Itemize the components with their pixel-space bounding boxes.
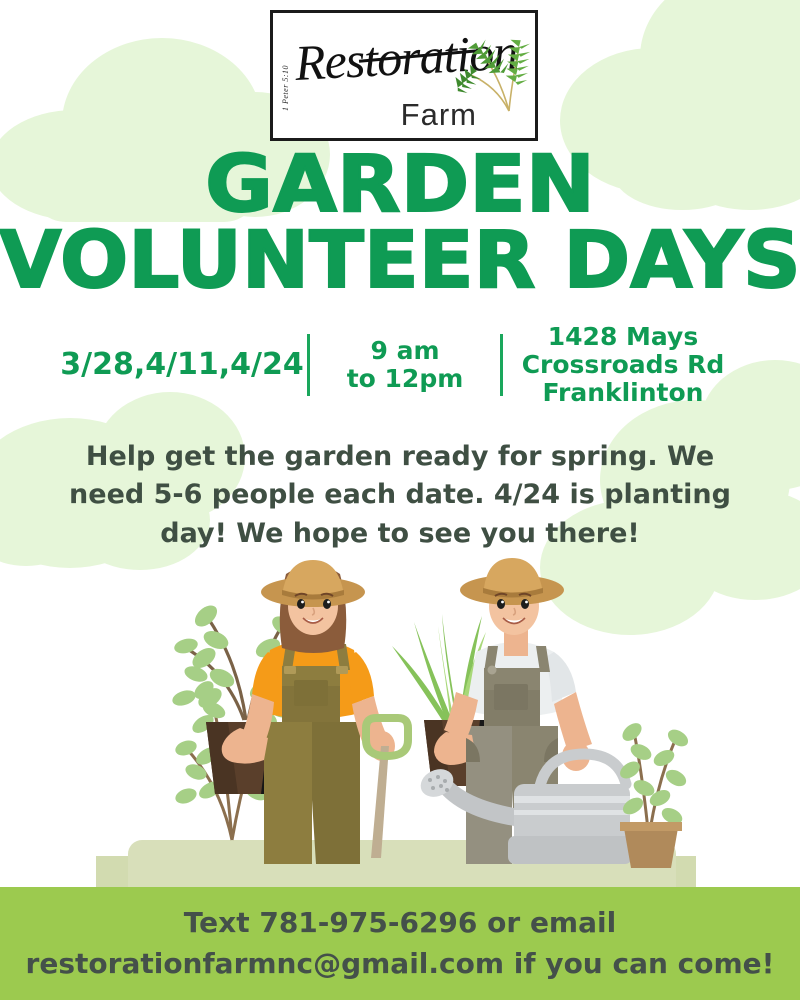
contact-text: Text 781-975-6296 or email restorationfa…	[2, 903, 799, 984]
gardeners-illustration	[0, 540, 800, 888]
address-line-1: 1428 Mays	[503, 323, 743, 351]
event-time-line-2: to 12pm	[310, 365, 500, 393]
contact-banner: Text 781-975-6296 or email restorationfa…	[0, 887, 800, 1000]
event-dates: 3/28,4/11,4/24	[57, 348, 307, 382]
contact-line-1: Text 781-975-6296 or email	[26, 903, 775, 944]
event-time: 9 am to 12pm	[310, 337, 500, 393]
contact-line-2: restorationfarmnc@gmail.com if you can c…	[26, 944, 775, 985]
address-line-2: Crossroads Rd	[503, 351, 743, 379]
cloud-shape	[640, 0, 800, 145]
event-info-row: 3/28,4/11,4/24 9 am to 12pm 1428 Mays Cr…	[0, 322, 800, 408]
headline-line-1: GARDEN	[0, 150, 800, 222]
address-line-3: Franklinton	[503, 379, 743, 407]
event-description: Help get the garden ready for spring. We…	[62, 438, 738, 553]
poster-canvas: 1 Peter 5:10 Restoration Farm	[0, 0, 800, 1000]
page-title: GARDEN VOLUNTEER DAYS	[0, 150, 800, 298]
event-time-line-1: 9 am	[310, 337, 500, 365]
female-gardener-figure	[222, 560, 395, 864]
event-address: 1428 Mays Crossroads Rd Franklinton	[503, 323, 743, 407]
bible-verse-text: 1 Peter 5:10	[279, 39, 293, 111]
rosemary-sprigs-icon	[431, 19, 531, 117]
headline-line-2: VOLUNTEER DAYS	[0, 226, 800, 298]
brand-logo: 1 Peter 5:10 Restoration Farm	[270, 10, 538, 141]
